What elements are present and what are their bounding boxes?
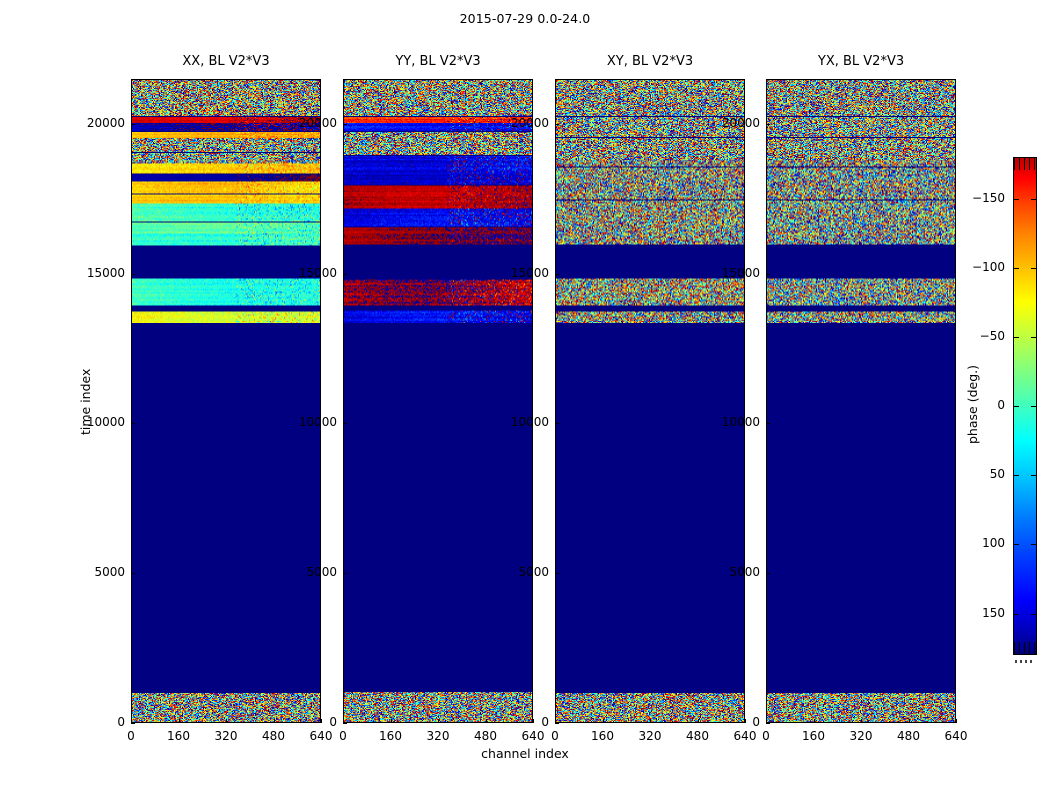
heatmap-panel-yx[interactable] (766, 79, 956, 723)
y-tick-mark (766, 423, 770, 424)
x-tick-mark (391, 719, 392, 723)
x-tick-mark (226, 719, 227, 723)
colorbar-tick-mark (1031, 268, 1036, 269)
colorbar-tick-label: 0 (937, 398, 1005, 412)
y-tick-label: 10000 (53, 415, 125, 429)
y-tick-mark (555, 124, 559, 125)
x-tick-mark (131, 719, 132, 723)
colorbar-over-arrow (1014, 158, 1036, 170)
y-tick-mark (131, 124, 135, 125)
x-tick-mark (603, 719, 604, 723)
colorbar-tick-label: 150 (937, 606, 1005, 620)
y-tick-mark (343, 124, 347, 125)
y-tick-label: 5000 (688, 565, 760, 579)
y-tick-mark (555, 573, 559, 574)
colorbar-tick-mark (1014, 268, 1019, 269)
y-tick-label: 0 (265, 715, 337, 729)
y-tick-label: 20000 (688, 116, 760, 130)
colorbar-tick-mark (1014, 475, 1019, 476)
x-tick-mark (814, 719, 815, 723)
colorbar-tick-mark (1014, 614, 1019, 615)
colorbar-under-marker (1015, 660, 1035, 663)
y-tick-mark (343, 573, 347, 574)
y-tick-mark (343, 274, 347, 275)
y-tick-label: 20000 (477, 116, 549, 130)
y-tick-label: 20000 (53, 116, 125, 130)
y-tick-mark (766, 124, 770, 125)
y-tick-label: 0 (477, 715, 549, 729)
y-tick-label: 10000 (477, 415, 549, 429)
x-tick-label: 640 (926, 729, 986, 743)
x-tick-mark (861, 719, 862, 723)
heatmap-panel-xy[interactable] (555, 79, 745, 723)
colorbar-tick-mark (1031, 199, 1036, 200)
y-tick-mark (555, 423, 559, 424)
x-tick-mark (343, 719, 344, 723)
colorbar-tick-mark (1014, 199, 1019, 200)
colorbar-tick-mark (1014, 544, 1019, 545)
colorbar-tick-label: −50 (937, 329, 1005, 343)
x-tick-mark (555, 719, 556, 723)
y-tick-mark (131, 274, 135, 275)
colorbar-tick-label: −150 (937, 191, 1005, 205)
colorbar-tick-mark (1014, 406, 1019, 407)
y-tick-label: 5000 (53, 565, 125, 579)
y-tick-mark (131, 573, 135, 574)
y-tick-label: 20000 (265, 116, 337, 130)
x-tick-mark (909, 719, 910, 723)
colorbar-tick-mark (1014, 337, 1019, 338)
y-tick-label: 5000 (265, 565, 337, 579)
colorbar-under-arrow (1014, 642, 1036, 654)
y-tick-mark (343, 723, 347, 724)
y-tick-mark (555, 274, 559, 275)
colorbar-tick-label: −100 (937, 260, 1005, 274)
colorbar-tick-label: 50 (937, 467, 1005, 481)
y-tick-label: 15000 (477, 266, 549, 280)
y-tick-label: 0 (688, 715, 760, 729)
y-tick-mark (555, 723, 559, 724)
colorbar-tick-mark (1031, 544, 1036, 545)
y-tick-label: 15000 (265, 266, 337, 280)
y-tick-label: 5000 (477, 565, 549, 579)
y-tick-mark (343, 423, 347, 424)
y-tick-mark (131, 423, 135, 424)
colorbar-tick-mark (1031, 475, 1036, 476)
x-tick-mark (766, 719, 767, 723)
colorbar-tick-label: 100 (937, 536, 1005, 550)
y-tick-mark (766, 573, 770, 574)
x-axis-label: channel index (0, 746, 1050, 761)
x-tick-mark (956, 719, 957, 723)
x-tick-mark (438, 719, 439, 723)
y-tick-label: 10000 (265, 415, 337, 429)
heatmap-panel-yy[interactable] (343, 79, 533, 723)
x-tick-mark (179, 719, 180, 723)
colorbar-tick-mark (1031, 337, 1036, 338)
matplotlib-figure: 2015-07-29 0.0-24.0 XX, BL V2*V3 YY, BL … (0, 0, 1050, 800)
y-tick-mark (131, 723, 135, 724)
colorbar-tick-mark (1031, 614, 1036, 615)
y-tick-label: 10000 (688, 415, 760, 429)
y-tick-label: 15000 (53, 266, 125, 280)
y-tick-label: 15000 (688, 266, 760, 280)
y-tick-mark (766, 723, 770, 724)
heatmap-panel-xx[interactable] (131, 79, 321, 723)
y-tick-mark (766, 274, 770, 275)
figure-suptitle: 2015-07-29 0.0-24.0 (0, 11, 1050, 26)
colorbar-tick-mark (1031, 406, 1036, 407)
panel-title-yx: YX, BL V2*V3 (736, 54, 986, 69)
x-tick-mark (650, 719, 651, 723)
y-tick-label: 0 (53, 715, 125, 729)
